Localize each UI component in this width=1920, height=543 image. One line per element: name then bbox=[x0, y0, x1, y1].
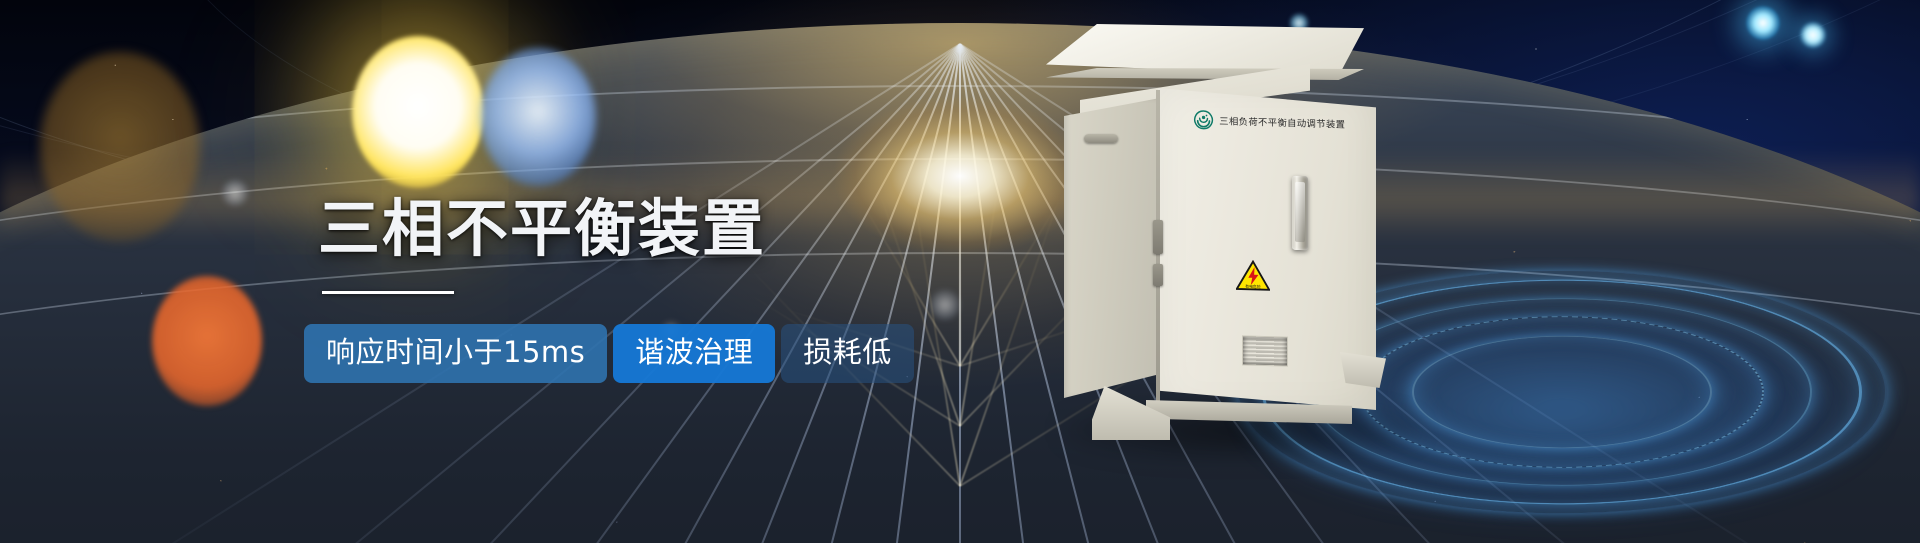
feature-tag-response-time: 响应时间小于15ms bbox=[304, 324, 607, 383]
ventilation-grille-icon bbox=[1242, 335, 1288, 366]
circular-emblem-icon bbox=[1194, 110, 1214, 130]
door-handle-icon bbox=[1292, 176, 1308, 250]
feature-tag-low-loss: 损耗低 bbox=[781, 324, 914, 383]
cabinet-foot-icon bbox=[1340, 352, 1386, 388]
feature-tag-harmonic-control: 谐波治理 bbox=[613, 324, 775, 383]
product-cabinet: 三相负荷不平衡自动调节装置 有电危险 bbox=[1040, 24, 1420, 444]
door-hinge-icon bbox=[1153, 220, 1163, 254]
hero-banner: 三相负荷不平衡自动调节装置 有电危险 三相不平衡装置 响应时间小于15ms 谐波… bbox=[0, 0, 1920, 543]
title-divider bbox=[322, 291, 454, 294]
cabinet-side-panel bbox=[1064, 98, 1160, 398]
page-title: 三相不平衡装置 bbox=[318, 196, 1078, 263]
side-handle-icon bbox=[1084, 134, 1118, 143]
cabinet-roof-icon bbox=[1046, 24, 1364, 76]
banner-copy: 三相不平衡装置 响应时间小于15ms 谐波治理 损耗低 bbox=[318, 196, 1078, 383]
electrical-hazard-icon: 有电危险 bbox=[1236, 260, 1270, 292]
product-brand-text: 三相负荷不平衡自动调节装置 bbox=[1219, 113, 1345, 130]
cabinet-roof-edge bbox=[1046, 68, 1364, 80]
door-hinge-icon bbox=[1153, 264, 1163, 286]
svg-text:有电危险: 有电危险 bbox=[1245, 284, 1261, 289]
feature-tag-list: 响应时间小于15ms 谐波治理 损耗低 bbox=[304, 324, 1078, 383]
